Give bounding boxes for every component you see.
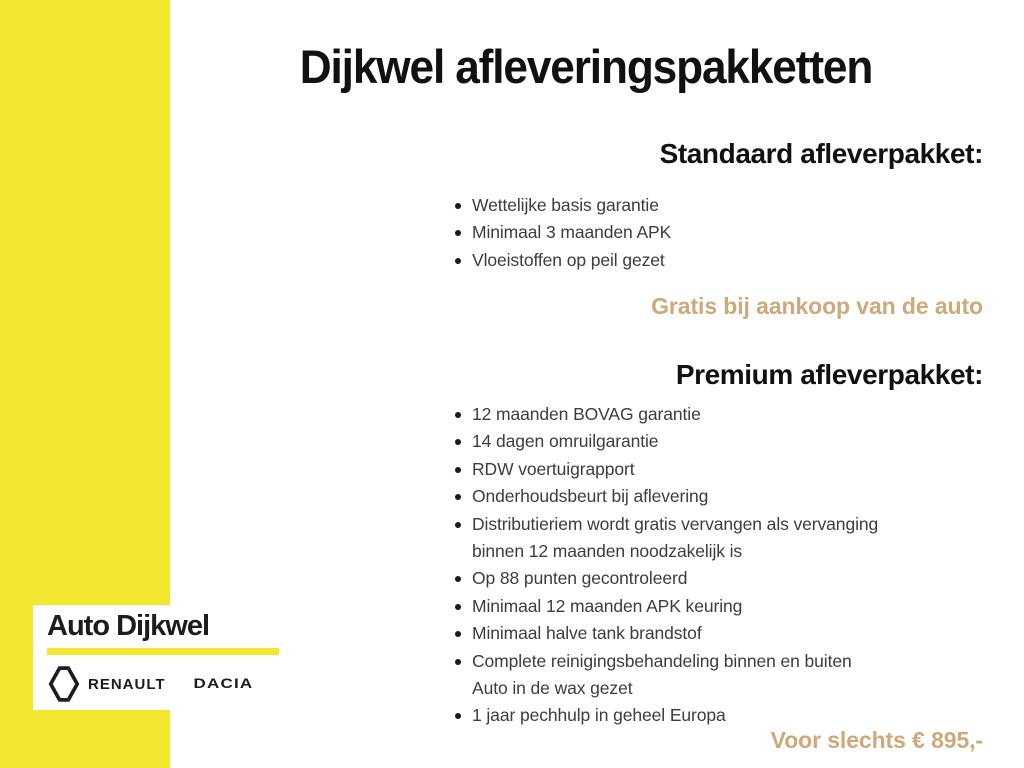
list-item: Minimaal halve tank brandstof — [450, 620, 1010, 647]
list-item: Distributieriem wordt gratis vervangen a… — [450, 511, 1010, 538]
premium-price-note: Voor slechts € 895,- — [186, 727, 983, 753]
renault-lockup: RENAULT — [47, 665, 166, 703]
logo-underline-rule — [47, 648, 279, 655]
list-item: RDW voertuigrapport — [450, 456, 1010, 483]
list-item: Vloeistoffen op peil gezet — [450, 247, 1010, 274]
premium-package-heading: Premium afleverpakket: — [186, 360, 983, 391]
list-item: Minimaal 3 maanden APK — [450, 219, 1010, 246]
list-item-label: Minimaal 12 maanden APK keuring — [472, 596, 742, 616]
list-item-label: Distributieriem wordt gratis vervangen a… — [472, 514, 878, 534]
list-item-label: binnen 12 maanden noodzakelijk is — [472, 541, 742, 561]
list-item-label: Vloeistoffen op peil gezet — [472, 250, 665, 270]
list-item: Minimaal 12 maanden APK keuring — [450, 593, 1010, 620]
content-column: Dijkwel afleveringspakketten Standaard a… — [186, 0, 986, 768]
list-item: 12 maanden BOVAG garantie — [450, 401, 1010, 428]
list-item-label: Minimaal halve tank brandstof — [472, 623, 702, 643]
list-item-label: Auto in de wax gezet — [472, 678, 632, 698]
list-item: Op 88 punten gecontroleerd — [450, 565, 1010, 592]
standard-package-note: Gratis bij aankoop van de auto — [186, 293, 983, 319]
list-item-continuation: binnen 12 maanden noodzakelijk is — [450, 538, 1010, 565]
list-item-label: Onderhoudsbeurt bij aflevering — [472, 486, 708, 506]
list-item-continuation: Auto in de wax gezet — [450, 675, 1010, 702]
list-item-label: 12 maanden BOVAG garantie — [472, 404, 701, 424]
list-item: 14 dagen omruilgarantie — [450, 428, 1010, 455]
list-item-label: Complete reinigingsbehandeling binnen en… — [472, 651, 852, 671]
list-item-label: Minimaal 3 maanden APK — [472, 222, 671, 242]
list-item: Wettelijke basis garantie — [450, 192, 1010, 219]
dealer-logo-plate: Auto Dijkwel RENAULT DACIA — [33, 605, 288, 710]
page-title: Dijkwel afleveringspakketten — [210, 43, 962, 90]
list-item-label: RDW voertuigrapport — [472, 459, 634, 479]
brand-lockup-row: RENAULT DACIA — [47, 665, 276, 703]
standard-package-list: Wettelijke basis garantie Minimaal 3 maa… — [450, 192, 1010, 274]
list-item: Complete reinigingsbehandeling binnen en… — [450, 648, 1010, 675]
dacia-label: DACIA — [194, 676, 254, 692]
renault-diamond-icon — [47, 665, 81, 703]
list-item-label: Wettelijke basis garantie — [472, 195, 659, 215]
list-item-label: Op 88 punten gecontroleerd — [472, 568, 687, 588]
renault-label: RENAULT — [88, 676, 166, 693]
list-item-label: 1 jaar pechhulp in geheel Europa — [472, 705, 726, 725]
standard-package-heading: Standaard afleverpakket: — [186, 139, 983, 170]
premium-package-list: 12 maanden BOVAG garantie 14 dagen omrui… — [450, 401, 1010, 730]
slide-root: Dijkwel afleveringspakketten Standaard a… — [0, 0, 1024, 768]
list-item: Onderhoudsbeurt bij aflevering — [450, 483, 1010, 510]
dealer-wordmark: Auto Dijkwel — [47, 612, 276, 641]
list-item-label: 14 dagen omruilgarantie — [472, 431, 658, 451]
list-item: 1 jaar pechhulp in geheel Europa — [450, 702, 1010, 729]
